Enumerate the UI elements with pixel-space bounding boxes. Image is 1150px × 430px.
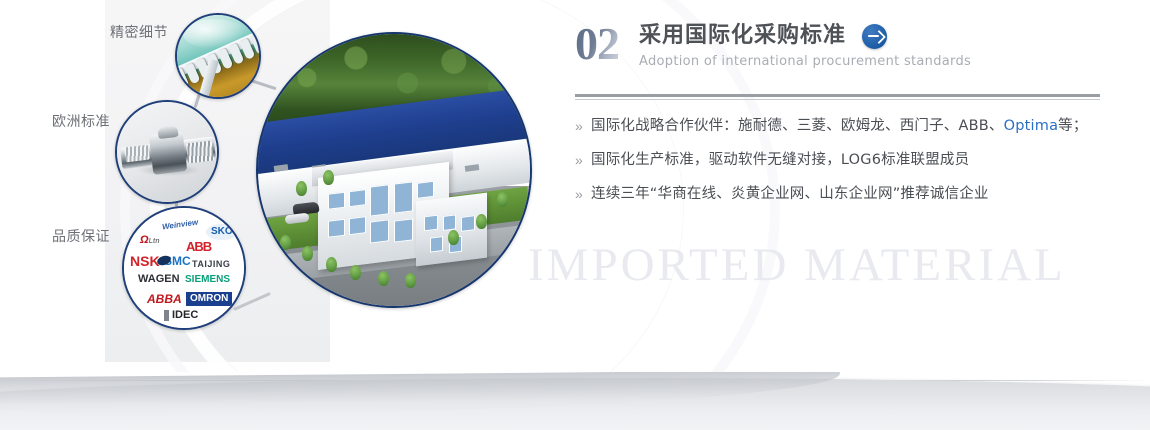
circle-european-standard xyxy=(115,100,219,204)
page-subtitle: Adoption of international procurement st… xyxy=(639,54,971,69)
annex-window xyxy=(424,215,437,232)
tree xyxy=(448,230,459,245)
tree xyxy=(302,246,313,261)
tree xyxy=(296,181,307,196)
list-item-text: 连续三年“华商在线、炎黄企业网、山东企业网”推荐诚信企业 xyxy=(591,184,989,205)
divider-thick xyxy=(575,94,1100,97)
tree xyxy=(497,192,508,207)
factory-window xyxy=(274,164,289,172)
label-precision-detail: 精密细节 xyxy=(110,22,168,42)
list-item-text-post: 等； xyxy=(1058,118,1087,134)
office-window xyxy=(394,218,413,243)
list-item-text-pre: 国际化战略合作伙伴：施耐德、三菱、欧姆龙、西门子、ABB、 xyxy=(591,118,1004,134)
header-divider xyxy=(575,94,1100,100)
circle-precision-detail xyxy=(175,13,261,99)
section-number: 02 xyxy=(575,22,629,66)
annex-window xyxy=(461,215,474,232)
office-window xyxy=(328,219,344,238)
logo-taijing: TAIJING xyxy=(192,260,230,269)
tree xyxy=(476,214,487,229)
arrow-right-icon[interactable] xyxy=(862,24,887,49)
annex-window xyxy=(430,236,443,253)
divider-thin xyxy=(575,99,1100,100)
gear-gloss xyxy=(183,19,247,49)
logo-siemens: SIEMENS xyxy=(185,275,230,285)
tree xyxy=(405,273,416,288)
feature-list: » 国际化战略合作伙伴：施耐德、三菱、欧姆龙、西门子、ABB、Optima等； … xyxy=(575,116,1100,205)
office-window xyxy=(349,217,365,236)
logo-abba: ABBA xyxy=(147,293,182,305)
list-item: » 连续三年“华商在线、炎黄企业网、山东企业网”推荐诚信企业 xyxy=(575,184,1100,205)
logo-abb: ABB xyxy=(186,240,211,253)
watermark-text: IMPORTED MATERIAL xyxy=(528,238,1066,292)
tree xyxy=(326,257,337,272)
office-window xyxy=(394,181,413,213)
logo-opta: ΩLtn xyxy=(140,235,159,246)
promo-banner: Weinview SKO ΩLtn ABB NSK SMC TAIJING WA… xyxy=(0,0,1150,430)
logo-wagen: WAGEN xyxy=(138,274,180,285)
office-window xyxy=(328,191,344,210)
label-quality-assurance: 品质保证 xyxy=(52,226,110,246)
section-titles: 采用国际化采购标准 Adoption of international proc… xyxy=(629,22,971,69)
list-item-text: 国际化战略合作伙伴：施耐德、三菱、欧姆龙、西门子、ABB、Optima等； xyxy=(591,116,1088,137)
logo-sko: SKO xyxy=(206,224,238,240)
bullet-marker-icon: » xyxy=(575,116,591,136)
circle-factory-building xyxy=(256,32,532,308)
content-column: 02 采用国际化采购标准 Adoption of international p… xyxy=(575,22,1100,218)
screw-thread-right xyxy=(186,140,214,163)
list-item-highlight: Optima xyxy=(1004,118,1059,134)
list-item-text: 国际化生产标准，驱动软件无缝对接，LOG6标准联盟成员 xyxy=(591,150,969,171)
factory-window xyxy=(464,164,479,172)
tree xyxy=(280,235,291,250)
office-window xyxy=(370,219,389,244)
screw-flange xyxy=(157,125,178,139)
office-window xyxy=(417,180,433,199)
logo-idec: IDEC xyxy=(164,310,198,321)
bottom-divider-band xyxy=(0,372,1150,430)
screw-thread-left xyxy=(124,145,150,163)
bullet-marker-icon: » xyxy=(575,184,591,204)
circle-quality-assurance: Weinview SKO ΩLtn ABB NSK SMC TAIJING WA… xyxy=(122,206,246,330)
office-window xyxy=(349,189,365,208)
page-title: 采用国际化采购标准 xyxy=(639,23,846,49)
tree xyxy=(323,170,334,185)
bullet-marker-icon: » xyxy=(575,150,591,170)
section-header: 02 采用国际化采购标准 Adoption of international p… xyxy=(575,22,1100,84)
list-item: » 国际化生产标准，驱动软件无缝对接，LOG6标准联盟成员 xyxy=(575,150,1100,171)
label-european-standard: 欧洲标准 xyxy=(52,111,110,131)
logo-omron: OMRON xyxy=(186,292,232,306)
logo-nsk: NSK xyxy=(130,254,160,268)
list-item: » 国际化战略合作伙伴：施耐德、三菱、欧姆龙、西门子、ABB、Optima等； xyxy=(575,116,1100,137)
office-window xyxy=(370,184,389,216)
tree xyxy=(378,271,389,286)
